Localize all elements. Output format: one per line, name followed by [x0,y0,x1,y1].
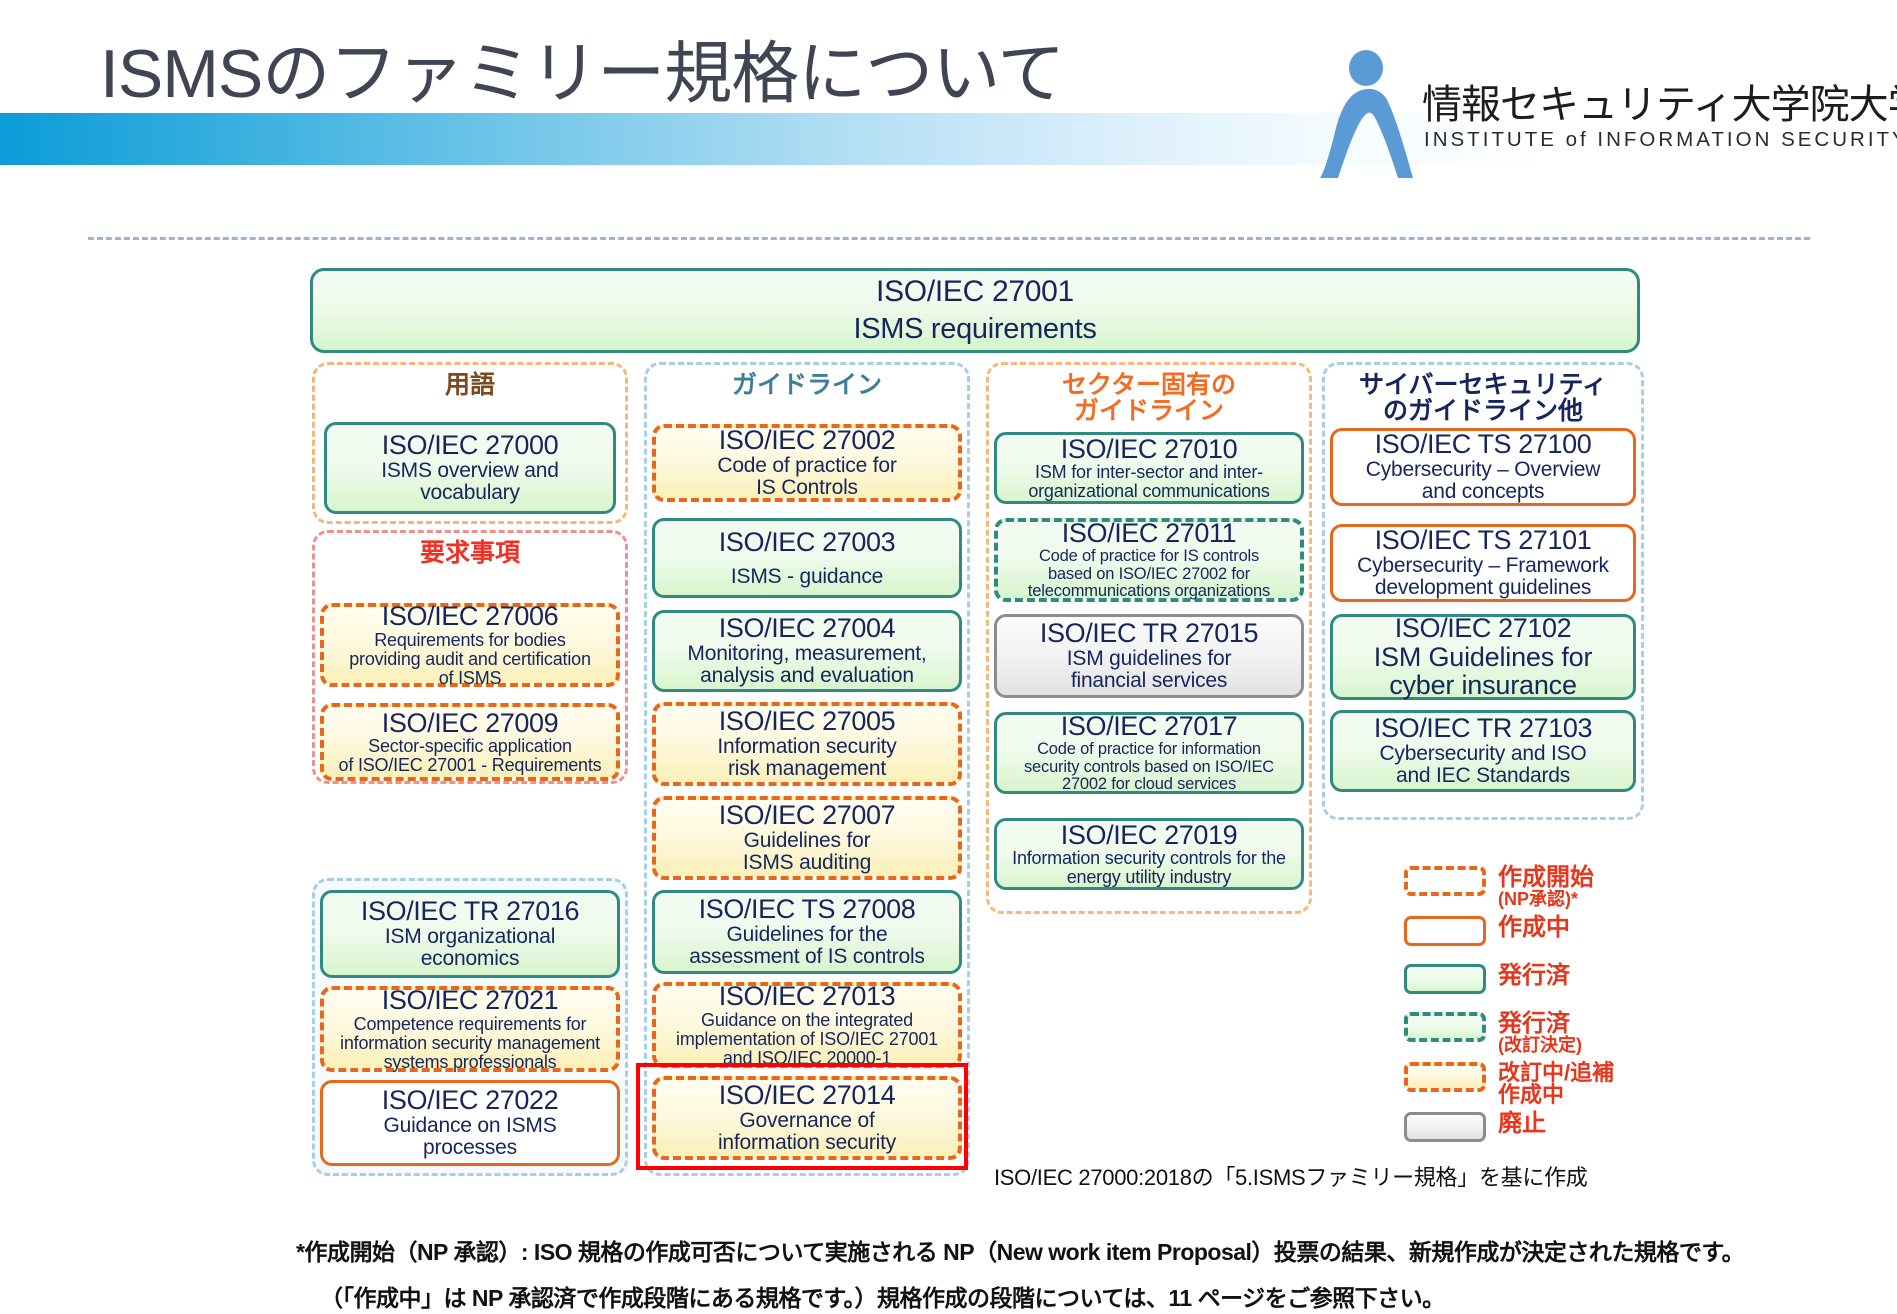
node-iso-27103: ISO/IEC TR 27103 Cybersecurity and ISO a… [1330,710,1636,792]
node-desc-line2: organizational communications [1028,482,1269,501]
node-code: ISO/IEC 27001 [876,275,1074,309]
node-desc-line1: ISM Guidelines for [1374,643,1593,672]
legend-row-withdrawn: 廃止 [1404,1112,1704,1142]
node-iso-27008: ISO/IEC TS 27008 Guidelines for the asse… [652,890,962,974]
node-iso-27101: ISO/IEC TS 27101 Cybersecurity – Framewo… [1330,524,1636,602]
node-code: ISO/IEC 27002 [719,426,895,455]
node-desc-line2: IS Controls [756,477,858,499]
group-cyber-title: サイバーセキュリティ のガイドライン他 [1325,373,1641,424]
legend-row-published-rev: 発行済 (改訂決定) [1404,1012,1704,1054]
node-iso-27015: ISO/IEC TR 27015 ISM guidelines for fina… [994,614,1304,698]
node-iso-27102: ISO/IEC 27102 ISM Guidelines for cyber i… [1330,614,1636,700]
group-sector-title: セクター固有の ガイドライン [989,373,1309,424]
node-iso-27007: ISO/IEC 27007 Guidelines for ISMS auditi… [652,796,962,880]
legend-label-line1: 作成中 [1498,916,1570,940]
node-desc-line2: information security management [340,1034,600,1053]
legend-label-revising: 改訂中/追補 作成中 [1498,1062,1614,1106]
node-desc-line1: Requirements for bodies [374,631,566,650]
node-iso-27000: ISO/IEC 27000 ISMS overview and vocabula… [324,422,616,514]
node-desc-line1: Cybersecurity and ISO [1379,743,1586,765]
footnote-2: （「作成中」は NP 承認済で作成段階にある規格です。）規格作成の段階については… [320,1279,1445,1313]
legend-label-published-rev: 発行済 (改訂決定) [1498,1012,1582,1054]
node-desc: ISMS requirements [853,313,1096,346]
node-desc-line2: and IEC Standards [1396,765,1570,787]
node-desc-line2: economics [421,948,520,970]
node-code: ISO/IEC TR 27016 [361,897,579,926]
node-desc-line1: Code of practice for information [1037,741,1261,758]
group-guidelines-title: ガイドライン [647,373,967,399]
group-cyber-title-line2: のガイドライン他 [1383,397,1583,425]
legend-label-drafting: 作成中 [1498,916,1570,940]
node-desc-line1: ISM guidelines for [1067,648,1231,670]
node-code: ISO/IEC 27005 [719,707,895,736]
highlight-box-iso-27014 [636,1063,968,1170]
node-code: ISO/IEC 27013 [719,982,895,1011]
node-code: ISO/IEC 27011 [1062,519,1236,548]
node-iso-27001: ISO/IEC 27001 ISMS requirements [310,268,1640,353]
node-desc-line1: Code of practice for IS controls [1039,548,1259,565]
legend-label-line2: 作成中 [1498,1084,1614,1106]
node-desc-line1: Cybersecurity – Overview [1366,459,1600,481]
node-iso-27009: ISO/IEC 27009 Sector-specific applicatio… [320,703,620,781]
legend: 作成開始 (NP承認)* 作成中 発行済 発行済 (改訂決定) [1404,866,1704,1146]
source-note: ISO/IEC 27000:2018の「5.ISMSファミリー規格」を基に作成 [994,1160,1587,1192]
node-desc-line1: ISM for inter-sector and inter- [1035,463,1263,482]
node-desc-line2: analysis and evaluation [700,665,914,687]
node-desc-line1: Guidance on the integrated [701,1011,913,1030]
node-desc-line2: financial services [1071,670,1227,692]
node-code: ISO/IEC 27006 [382,602,558,631]
node-code: ISO/IEC 27021 [382,986,558,1015]
legend-label-line1: 作成開始 [1498,866,1594,890]
node-desc-line2: development guidelines [1375,577,1591,599]
footnote-1: *作成開始（NP 承認）: ISO 規格の作成可否について実施される NP（Ne… [296,1233,1744,1267]
node-iso-27011: ISO/IEC 27011 Code of practice for IS co… [994,518,1304,602]
group-cyber-title-line1: サイバーセキュリティ [1359,371,1607,399]
legend-label-published: 発行済 [1498,964,1570,988]
legend-label-line1: 発行済 [1498,1012,1582,1036]
node-desc-line1: ISMS - guidance [731,566,883,588]
node-desc-line3: 27002 for cloud services [1062,776,1236,793]
legend-row-drafting: 作成中 [1404,916,1704,946]
legend-swatch-published-rev [1404,1012,1486,1042]
group-sector-title-line2: ガイドライン [1074,397,1224,425]
legend-label-line1: 発行済 [1498,964,1570,988]
node-desc-line3: of ISMS [439,669,502,688]
node-desc-line1: Guidance on ISMS [383,1115,556,1137]
group-terms-title: 用語 [315,373,625,399]
legend-label-withdrawn: 廃止 [1498,1112,1546,1136]
node-desc-line2: providing audit and certification [349,650,591,669]
node-code: ISO/IEC TS 27100 [1375,430,1592,459]
node-desc-line2: vocabulary [420,482,520,504]
node-iso-27021: ISO/IEC 27021 Competence requirements fo… [320,986,620,1072]
node-code: ISO/IEC 27004 [719,614,895,643]
legend-swatch-withdrawn [1404,1112,1486,1142]
node-iso-27016: ISO/IEC TR 27016 ISM organizational econ… [320,890,620,978]
legend-label-line1: 廃止 [1498,1112,1546,1136]
node-code: ISO/IEC 27017 [1061,712,1237,741]
node-code: ISO/IEC TR 27103 [1374,714,1592,743]
node-desc-line1: Cybersecurity – Framework [1357,555,1609,577]
node-desc-line1: ISMS overview and [381,460,559,482]
node-desc-line1: Information security [717,736,896,758]
node-code: ISO/IEC 27102 [1395,614,1571,643]
node-desc-line1: Monitoring, measurement, [687,643,926,665]
node-code: ISO/IEC TS 27101 [1375,526,1592,555]
node-code: ISO/IEC 27019 [1061,821,1237,850]
node-desc-line1: Guidelines for [744,830,871,852]
node-iso-27019: ISO/IEC 27019 Information security contr… [994,818,1304,890]
node-desc-line1: Sector-specific application [368,737,572,756]
legend-label-line2: (NP承認)* [1498,890,1594,908]
node-code: ISO/IEC 27022 [382,1086,558,1115]
legend-row-revising: 改訂中/追補 作成中 [1404,1062,1704,1106]
legend-swatch-drafting [1404,916,1486,946]
node-desc-line2: risk management [728,758,886,780]
node-desc-line3: systems professionals [384,1053,557,1072]
node-desc-line1: Information security controls for the [1012,849,1286,868]
node-desc-line2: processes [423,1137,517,1159]
legend-label-line1: 改訂中/追補 [1498,1062,1614,1084]
legend-row-published: 発行済 [1404,964,1704,994]
node-code: ISO/IEC 27003 [719,528,895,557]
node-iso-27005: ISO/IEC 27005 Information security risk … [652,702,962,786]
node-iso-27100: ISO/IEC TS 27100 Cybersecurity – Overvie… [1330,428,1636,506]
node-code: ISO/IEC 27009 [382,709,558,738]
node-desc-line2: implementation of ISO/IEC 27001 [676,1030,938,1049]
node-iso-27002: ISO/IEC 27002 Code of practice for IS Co… [652,424,962,502]
isms-family-standards-diagram: ISO/IEC 27001 ISMS requirements 用語 ISO/I… [0,0,1897,1314]
node-code: ISO/IEC 27010 [1061,435,1237,464]
node-iso-27022: ISO/IEC 27022 Guidance on ISMS processes [320,1080,620,1166]
node-desc-line1: Code of practice for [717,455,896,477]
legend-swatch-revising [1404,1062,1486,1092]
node-desc-line2: ISMS auditing [743,852,871,874]
node-iso-27017: ISO/IEC 27017 Code of practice for infor… [994,712,1304,794]
node-desc-line1: Guidelines for the [727,924,888,946]
node-desc-line2: energy utility industry [1067,868,1231,887]
node-desc-line2: based on ISO/IEC 27002 for [1048,566,1250,583]
node-desc-line2: security controls based on ISO/IEC [1024,759,1274,776]
node-desc-line1: ISM organizational [385,926,555,948]
node-desc-line2: of ISO/IEC 27001 - Requirements [339,756,602,775]
node-desc-line3: telecommunications organizations [1028,583,1270,600]
node-code: ISO/IEC 27007 [719,801,895,830]
node-iso-27010: ISO/IEC 27010 ISM for inter-sector and i… [994,432,1304,504]
legend-swatch-published [1404,964,1486,994]
legend-row-np: 作成開始 (NP承認)* [1404,866,1704,908]
node-code: ISO/IEC TS 27008 [699,895,916,924]
node-desc-line2: cyber insurance [1389,671,1577,700]
legend-swatch-np [1404,866,1486,896]
group-requirements-title: 要求事項 [315,541,625,567]
node-iso-27006: ISO/IEC 27006 Requirements for bodies pr… [320,603,620,687]
node-desc-line1: Competence requirements for [354,1015,587,1034]
legend-label-np: 作成開始 (NP承認)* [1498,866,1594,908]
node-iso-27003: ISO/IEC 27003 ISMS - guidance [652,518,962,598]
node-iso-27013: ISO/IEC 27013 Guidance on the integrated… [652,982,962,1068]
node-desc-line2: and concepts [1422,481,1545,503]
legend-label-line2: (改訂決定) [1498,1036,1582,1054]
node-desc-line2: assessment of IS controls [689,946,924,968]
node-code: ISO/IEC 27000 [382,431,558,460]
node-code: ISO/IEC TR 27015 [1040,619,1258,648]
group-sector-title-line1: セクター固有の [1062,371,1236,399]
node-iso-27004: ISO/IEC 27004 Monitoring, measurement, a… [652,610,962,692]
